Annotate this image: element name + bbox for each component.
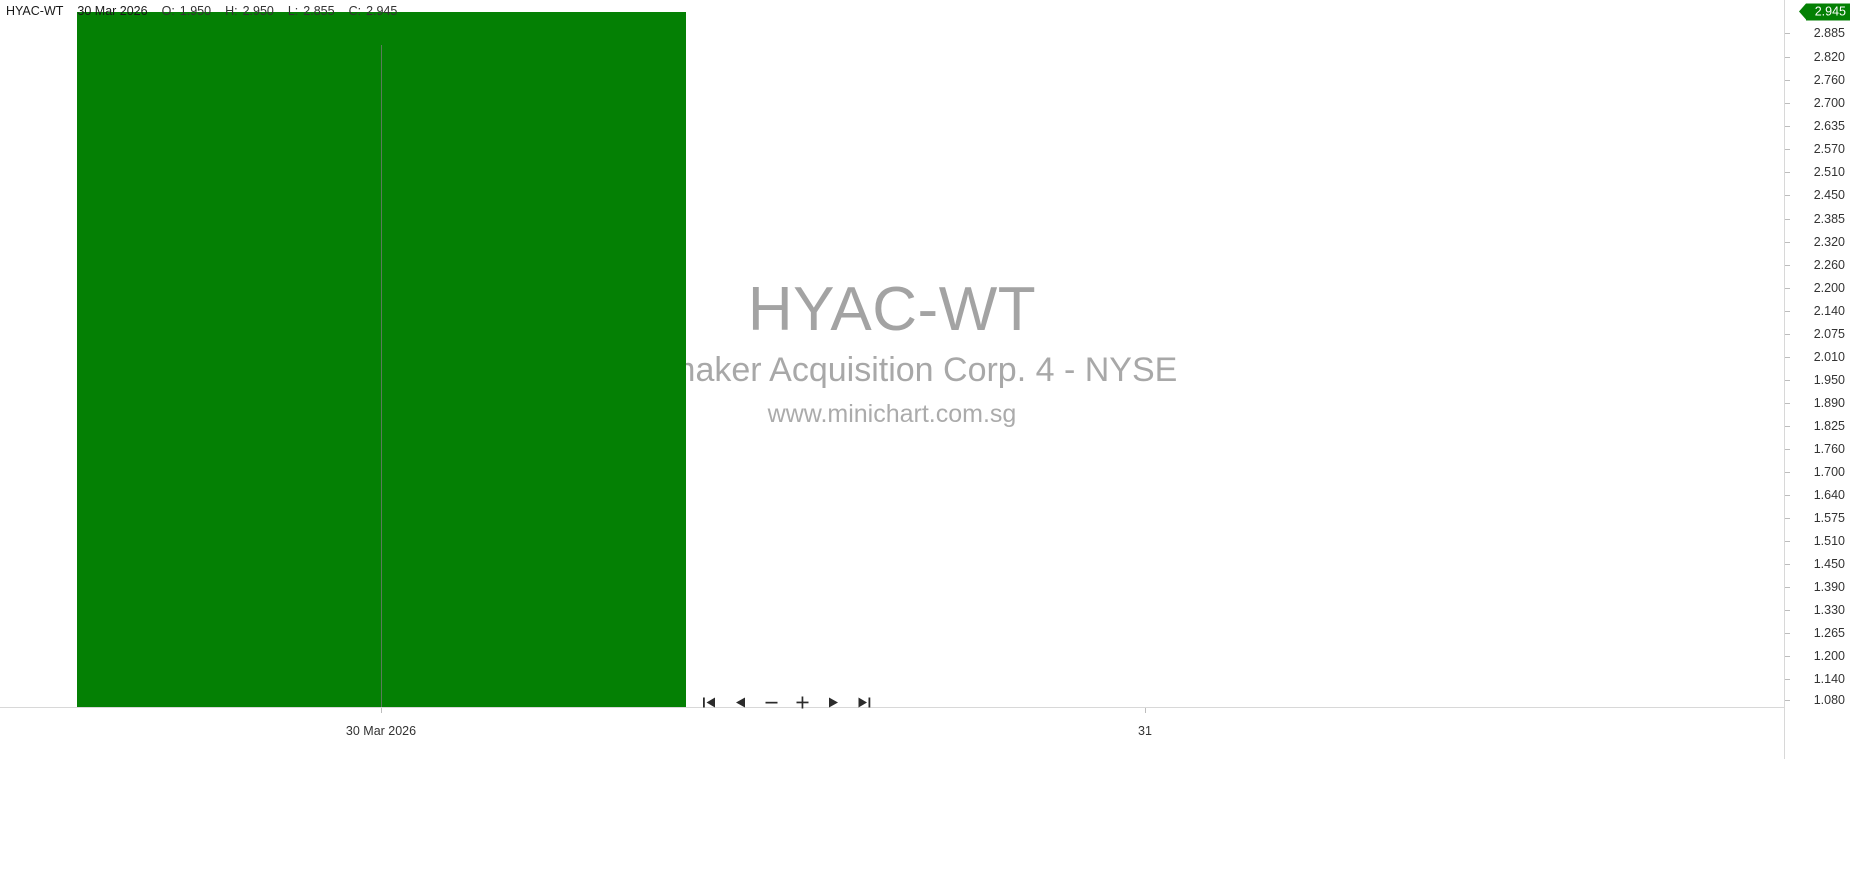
price-axis-tick-mark: [1785, 449, 1790, 450]
price-axis-tick-label: 2.075: [1814, 327, 1845, 341]
date-axis-tick-label: 31: [1138, 724, 1152, 738]
zoom-out-button[interactable]: [762, 693, 780, 711]
date-axis-tick-mark: [381, 708, 382, 713]
price-axis-tick-label: 1.390: [1814, 580, 1845, 594]
price-axis-tick-mark: [1785, 587, 1790, 588]
price-axis-tick-label: 1.950: [1814, 373, 1845, 387]
price-axis-tick-label: 1.140: [1814, 672, 1845, 686]
price-axis-tick-label: 1.200: [1814, 649, 1845, 663]
go-to-end-button[interactable]: [855, 693, 873, 711]
zoom-in-button[interactable]: [793, 693, 811, 711]
plus-icon: [795, 695, 810, 710]
price-axis-tick-mark: [1785, 149, 1790, 150]
candle-separator-line: [381, 45, 382, 707]
price-axis-tick-label: 2.635: [1814, 119, 1845, 133]
chart-plot-area[interactable]: HYAC-WT Haymaker Acquisition Corp. 4 - N…: [0, 0, 1784, 707]
price-axis-tick-mark: [1785, 380, 1790, 381]
price-axis-tick-label: 2.200: [1814, 281, 1845, 295]
price-axis-tick-mark: [1785, 57, 1790, 58]
minus-icon: [764, 696, 779, 709]
step-forward-button[interactable]: [824, 693, 842, 711]
price-axis-tick-label: 1.760: [1814, 442, 1845, 456]
price-axis-tick-label: 2.140: [1814, 304, 1845, 318]
price-axis-tick-label: 1.510: [1814, 534, 1845, 548]
price-axis-tick-mark: [1785, 357, 1790, 358]
price-axis-tick-label: 2.700: [1814, 96, 1845, 110]
price-axis-tick-label: 1.700: [1814, 465, 1845, 479]
price-axis-tick-label: 2.820: [1814, 50, 1845, 64]
price-axis-tick-label: 2.260: [1814, 258, 1845, 272]
price-axis-tick-label: 1.825: [1814, 419, 1845, 433]
price-axis-tick-label: 1.265: [1814, 626, 1845, 640]
date-axis-tick-label: 30 Mar 2026: [346, 724, 416, 738]
price-axis-tick-label: 2.760: [1814, 73, 1845, 87]
price-axis-tick-label: 2.570: [1814, 142, 1845, 156]
price-axis-tick-label: 2.320: [1814, 235, 1845, 249]
price-axis-tick-mark: [1785, 679, 1790, 680]
price-axis-tick-mark: [1785, 195, 1790, 196]
price-axis-tick-label: 2.010: [1814, 350, 1845, 364]
price-axis-tick-label: 2.885: [1814, 26, 1845, 40]
price-axis-tick-mark: [1785, 265, 1790, 266]
chart-navigation-controls[interactable]: [700, 693, 873, 711]
price-axis-tick-mark: [1785, 103, 1790, 104]
skip-forward-icon: [857, 696, 872, 709]
price-axis-tick-mark: [1785, 403, 1790, 404]
price-axis-tick-mark: [1785, 541, 1790, 542]
price-axis-tick-mark: [1785, 518, 1790, 519]
price-axis-tick-label: 2.510: [1814, 165, 1845, 179]
price-axis-tick-mark: [1785, 311, 1790, 312]
price-axis-tick-label: 1.450: [1814, 557, 1845, 571]
price-axis-tick-mark: [1785, 126, 1790, 127]
price-axis-tick-label: 1.575: [1814, 511, 1845, 525]
x-axis[interactable]: 30 Mar 202631: [0, 707, 1784, 759]
current-price-badge: 2.945: [1806, 4, 1850, 21]
price-axis-tick-label: 2.385: [1814, 212, 1845, 226]
price-axis-tick-mark: [1785, 288, 1790, 289]
play-forward-icon: [827, 696, 840, 709]
price-axis-tick-label: 2.450: [1814, 188, 1845, 202]
price-axis-tick-mark: [1785, 495, 1790, 496]
skip-back-icon: [702, 696, 717, 709]
chart-application: HYAC-WT Haymaker Acquisition Corp. 4 - N…: [0, 0, 1850, 874]
price-axis-tick-label: 1.640: [1814, 488, 1845, 502]
price-axis-tick-mark: [1785, 656, 1790, 657]
price-axis-tick-label: 1.890: [1814, 396, 1845, 410]
price-axis-tick-mark: [1785, 242, 1790, 243]
price-axis-tick-mark: [1785, 633, 1790, 634]
price-axis-tick-mark: [1785, 219, 1790, 220]
step-back-button[interactable]: [731, 693, 749, 711]
price-axis-tick-label: 1.330: [1814, 603, 1845, 617]
date-axis-tick-mark: [1145, 708, 1146, 713]
price-axis-tick-mark: [1785, 426, 1790, 427]
price-axis-tick-mark: [1785, 80, 1790, 81]
price-axis-tick-mark: [1785, 172, 1790, 173]
price-axis-tick-mark: [1785, 472, 1790, 473]
price-axis-tick-label: 1.080: [1814, 693, 1845, 707]
candle-layer: [0, 0, 1784, 707]
price-axis-tick-mark: [1785, 700, 1790, 701]
price-axis-tick-mark: [1785, 610, 1790, 611]
price-axis-tick-mark: [1785, 334, 1790, 335]
price-axis-tick-mark: [1785, 564, 1790, 565]
bottom-filler: [0, 759, 1850, 874]
price-axis-tick-mark: [1785, 33, 1790, 34]
go-to-start-button[interactable]: [700, 693, 718, 711]
price-axis[interactable]: 2.8852.8202.7602.7002.6352.5702.5102.450…: [1784, 0, 1850, 759]
play-back-icon: [734, 696, 747, 709]
